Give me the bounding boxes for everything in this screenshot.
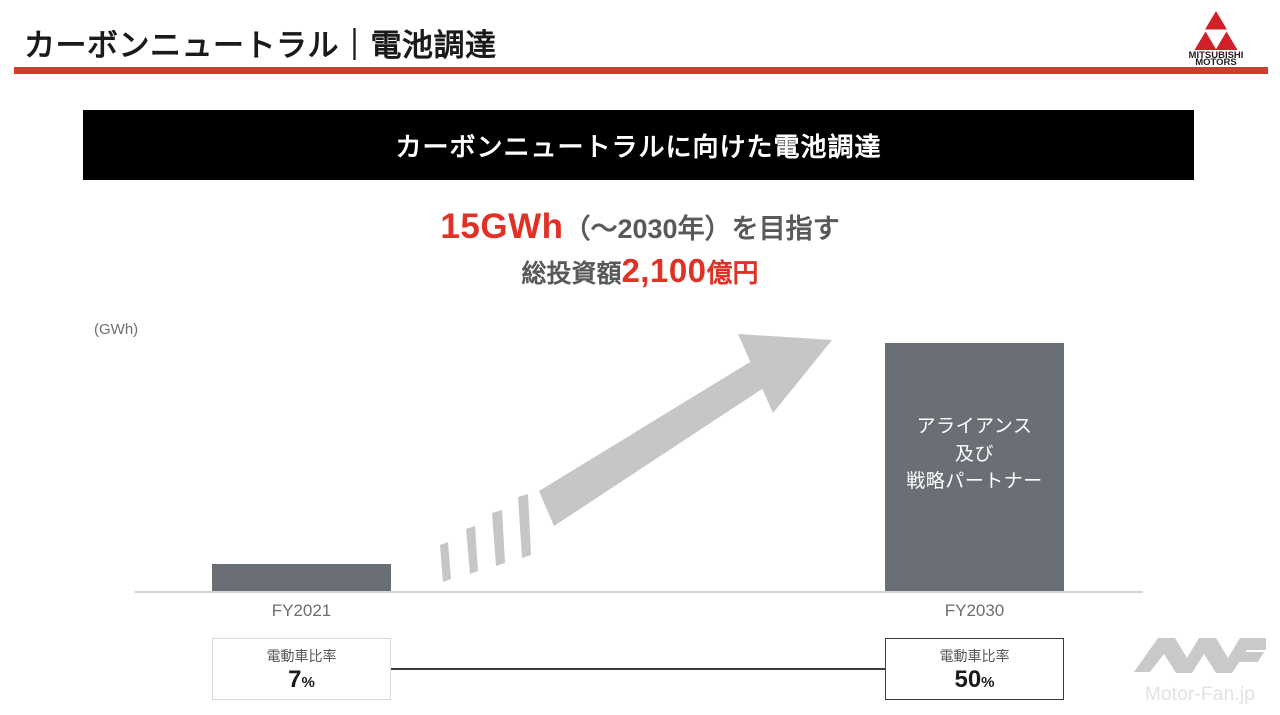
headline-line-1: 15GWh（～2030年）を目指す [0, 205, 1280, 250]
x-tick-fy2030: FY2030 [885, 601, 1064, 621]
headline-line-2: 総投資額2,100億円 [0, 250, 1280, 292]
header-red-rule [14, 67, 1268, 74]
slide-header: カーボンニュートラル｜電池調達 MITSUBISHI MOTORS [0, 0, 1280, 74]
headline-investment-amount: 2,100 [621, 252, 706, 289]
electrified-ratio-caption-fy2030: 電動車比率 [886, 646, 1063, 666]
electrified-ratio-unit-fy2021: % [302, 674, 315, 691]
watermark-text: Motor-Fan.jp [1128, 684, 1272, 706]
electrified-ratio-box-fy2030: 電動車比率 50% [885, 638, 1064, 700]
electrified-ratio-box-fy2021: 電動車比率 7% [212, 638, 391, 700]
battery-capacity-chart: (GWh) FY2021 アライアンス 及び 戦略パートナー FY2030 電動… [0, 0, 1280, 715]
headline-target-qualifier: （～2030年）を目指す [564, 214, 840, 244]
electrified-ratio-number-fy2030: 50 [954, 666, 981, 693]
mitsubishi-motors-logo: MITSUBISHI MOTORS [1168, 7, 1264, 65]
headline-investment-label: 総投資額 [521, 260, 621, 288]
x-axis-line [135, 591, 1143, 593]
bar-fy2030-inside-label: アライアンス 及び 戦略パートナー [885, 413, 1064, 496]
bar-fy2030 [885, 343, 1064, 591]
y-axis-unit-label: (GWh) [94, 321, 138, 338]
section-banner: カーボンニュートラルに向けた電池調達 [83, 110, 1194, 180]
bar-fy2021 [212, 564, 391, 591]
motor-fan-watermark: Motor-Fan.jp [1128, 628, 1272, 712]
x-tick-fy2021: FY2021 [212, 601, 391, 621]
electrified-ratio-caption-fy2021: 電動車比率 [213, 646, 390, 666]
electrified-ratio-value-fy2030: 50% [886, 667, 1063, 693]
bar-fy2030-label-line-1: アライアンス [917, 416, 1033, 437]
svg-text:MOTORS: MOTORS [1195, 57, 1237, 65]
electrified-ratio-unit-fy2030: % [981, 674, 994, 691]
growth-arrow-icon [420, 330, 850, 600]
headline-target-value: 15GWh [440, 207, 563, 246]
bar-fy2030-label-line-3: 戦略パートナー [906, 471, 1043, 492]
callout-connector-line [391, 668, 885, 670]
electrified-ratio-number-fy2021: 7 [288, 666, 301, 693]
bar-fy2030-label-line-2: 及び [955, 444, 994, 465]
electrified-ratio-value-fy2021: 7% [213, 667, 390, 693]
page-title: カーボンニュートラル｜電池調達 [24, 20, 497, 65]
section-banner-text: カーボンニュートラルに向けた電池調達 [395, 127, 881, 164]
headline-block: 15GWh（～2030年）を目指す 総投資額2,100億円 [0, 205, 1280, 292]
headline-investment-unit: 億円 [707, 258, 759, 288]
